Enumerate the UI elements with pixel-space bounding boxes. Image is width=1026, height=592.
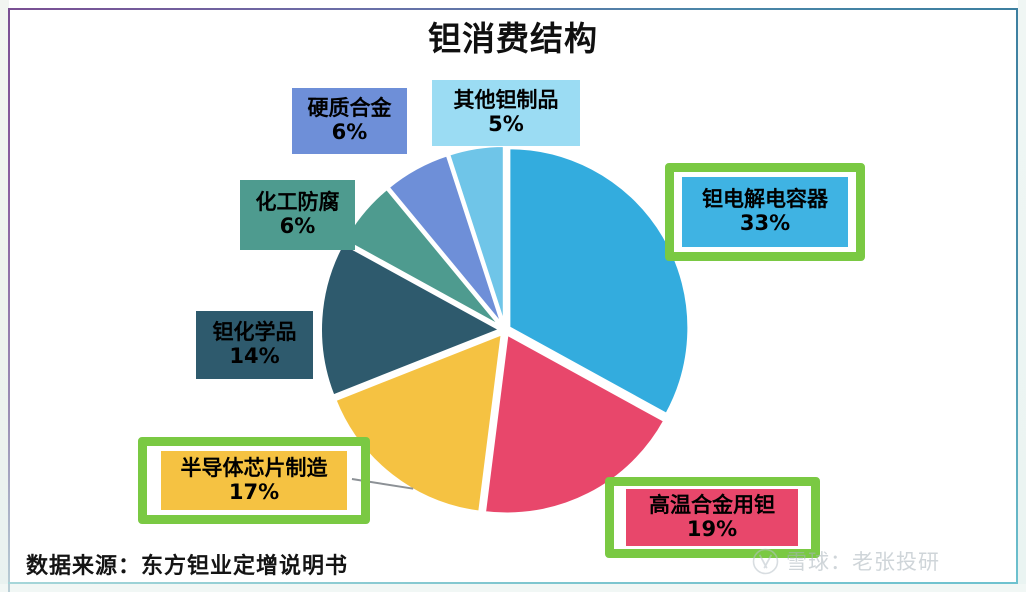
frame-border-top	[8, 8, 1018, 10]
xueqiu-logo-icon	[752, 548, 779, 575]
callout-anticorrosion[interactable]: 化工防腐 6%	[240, 180, 355, 250]
source-note: 数据来源：东方钽业定增说明书	[26, 548, 348, 580]
callout-others-label: 其他钽制品	[454, 89, 559, 113]
watermark-text: 雪球：老张投研	[786, 546, 940, 576]
callout-carbide[interactable]: 硬质合金 6%	[292, 88, 407, 154]
callout-superalloy-label: 高温合金用钽	[649, 494, 775, 518]
frame-edge-left	[0, 0, 9, 592]
frame-edge-right	[1018, 0, 1026, 592]
callout-semiconductor-label: 半导体芯片制造	[181, 457, 328, 481]
callout-carbide-value: 6%	[332, 121, 368, 145]
callout-capacitor[interactable]: 钽电解电容器 33%	[682, 177, 848, 247]
page-title: 钽消费结构	[0, 12, 1026, 60]
callout-capacitor-value: 33%	[740, 212, 790, 236]
frame-border-bottom	[8, 582, 1018, 584]
callout-chemicals[interactable]: 钽化学品 14%	[196, 311, 313, 379]
frame-edge-bottom	[0, 584, 1026, 592]
callout-anticorrosion-label: 化工防腐	[256, 191, 340, 215]
callout-anticorrosion-value: 6%	[280, 215, 316, 239]
callout-chemicals-label: 钽化学品	[213, 321, 297, 345]
callout-carbide-label: 硬质合金	[308, 97, 392, 121]
callout-semiconductor-value: 17%	[229, 481, 279, 505]
callout-superalloy-value: 19%	[687, 518, 737, 542]
callout-chemicals-value: 14%	[229, 345, 279, 369]
watermark: 雪球：老张投研	[752, 546, 940, 576]
frame-border-left	[8, 8, 10, 592]
callout-others[interactable]: 其他钽制品 5%	[432, 80, 580, 146]
frame-border-right	[1016, 8, 1018, 584]
callout-capacitor-label: 钽电解电容器	[702, 188, 828, 212]
slide-canvas: 钽消费结构 其他钽制品 5% 硬质合金 6% 化工防腐 6% 钽化学品 14% …	[0, 0, 1026, 592]
callout-semiconductor[interactable]: 半导体芯片制造 17%	[161, 451, 347, 510]
callout-others-value: 5%	[488, 113, 524, 137]
callout-superalloy[interactable]: 高温合金用钽 19%	[626, 489, 798, 546]
